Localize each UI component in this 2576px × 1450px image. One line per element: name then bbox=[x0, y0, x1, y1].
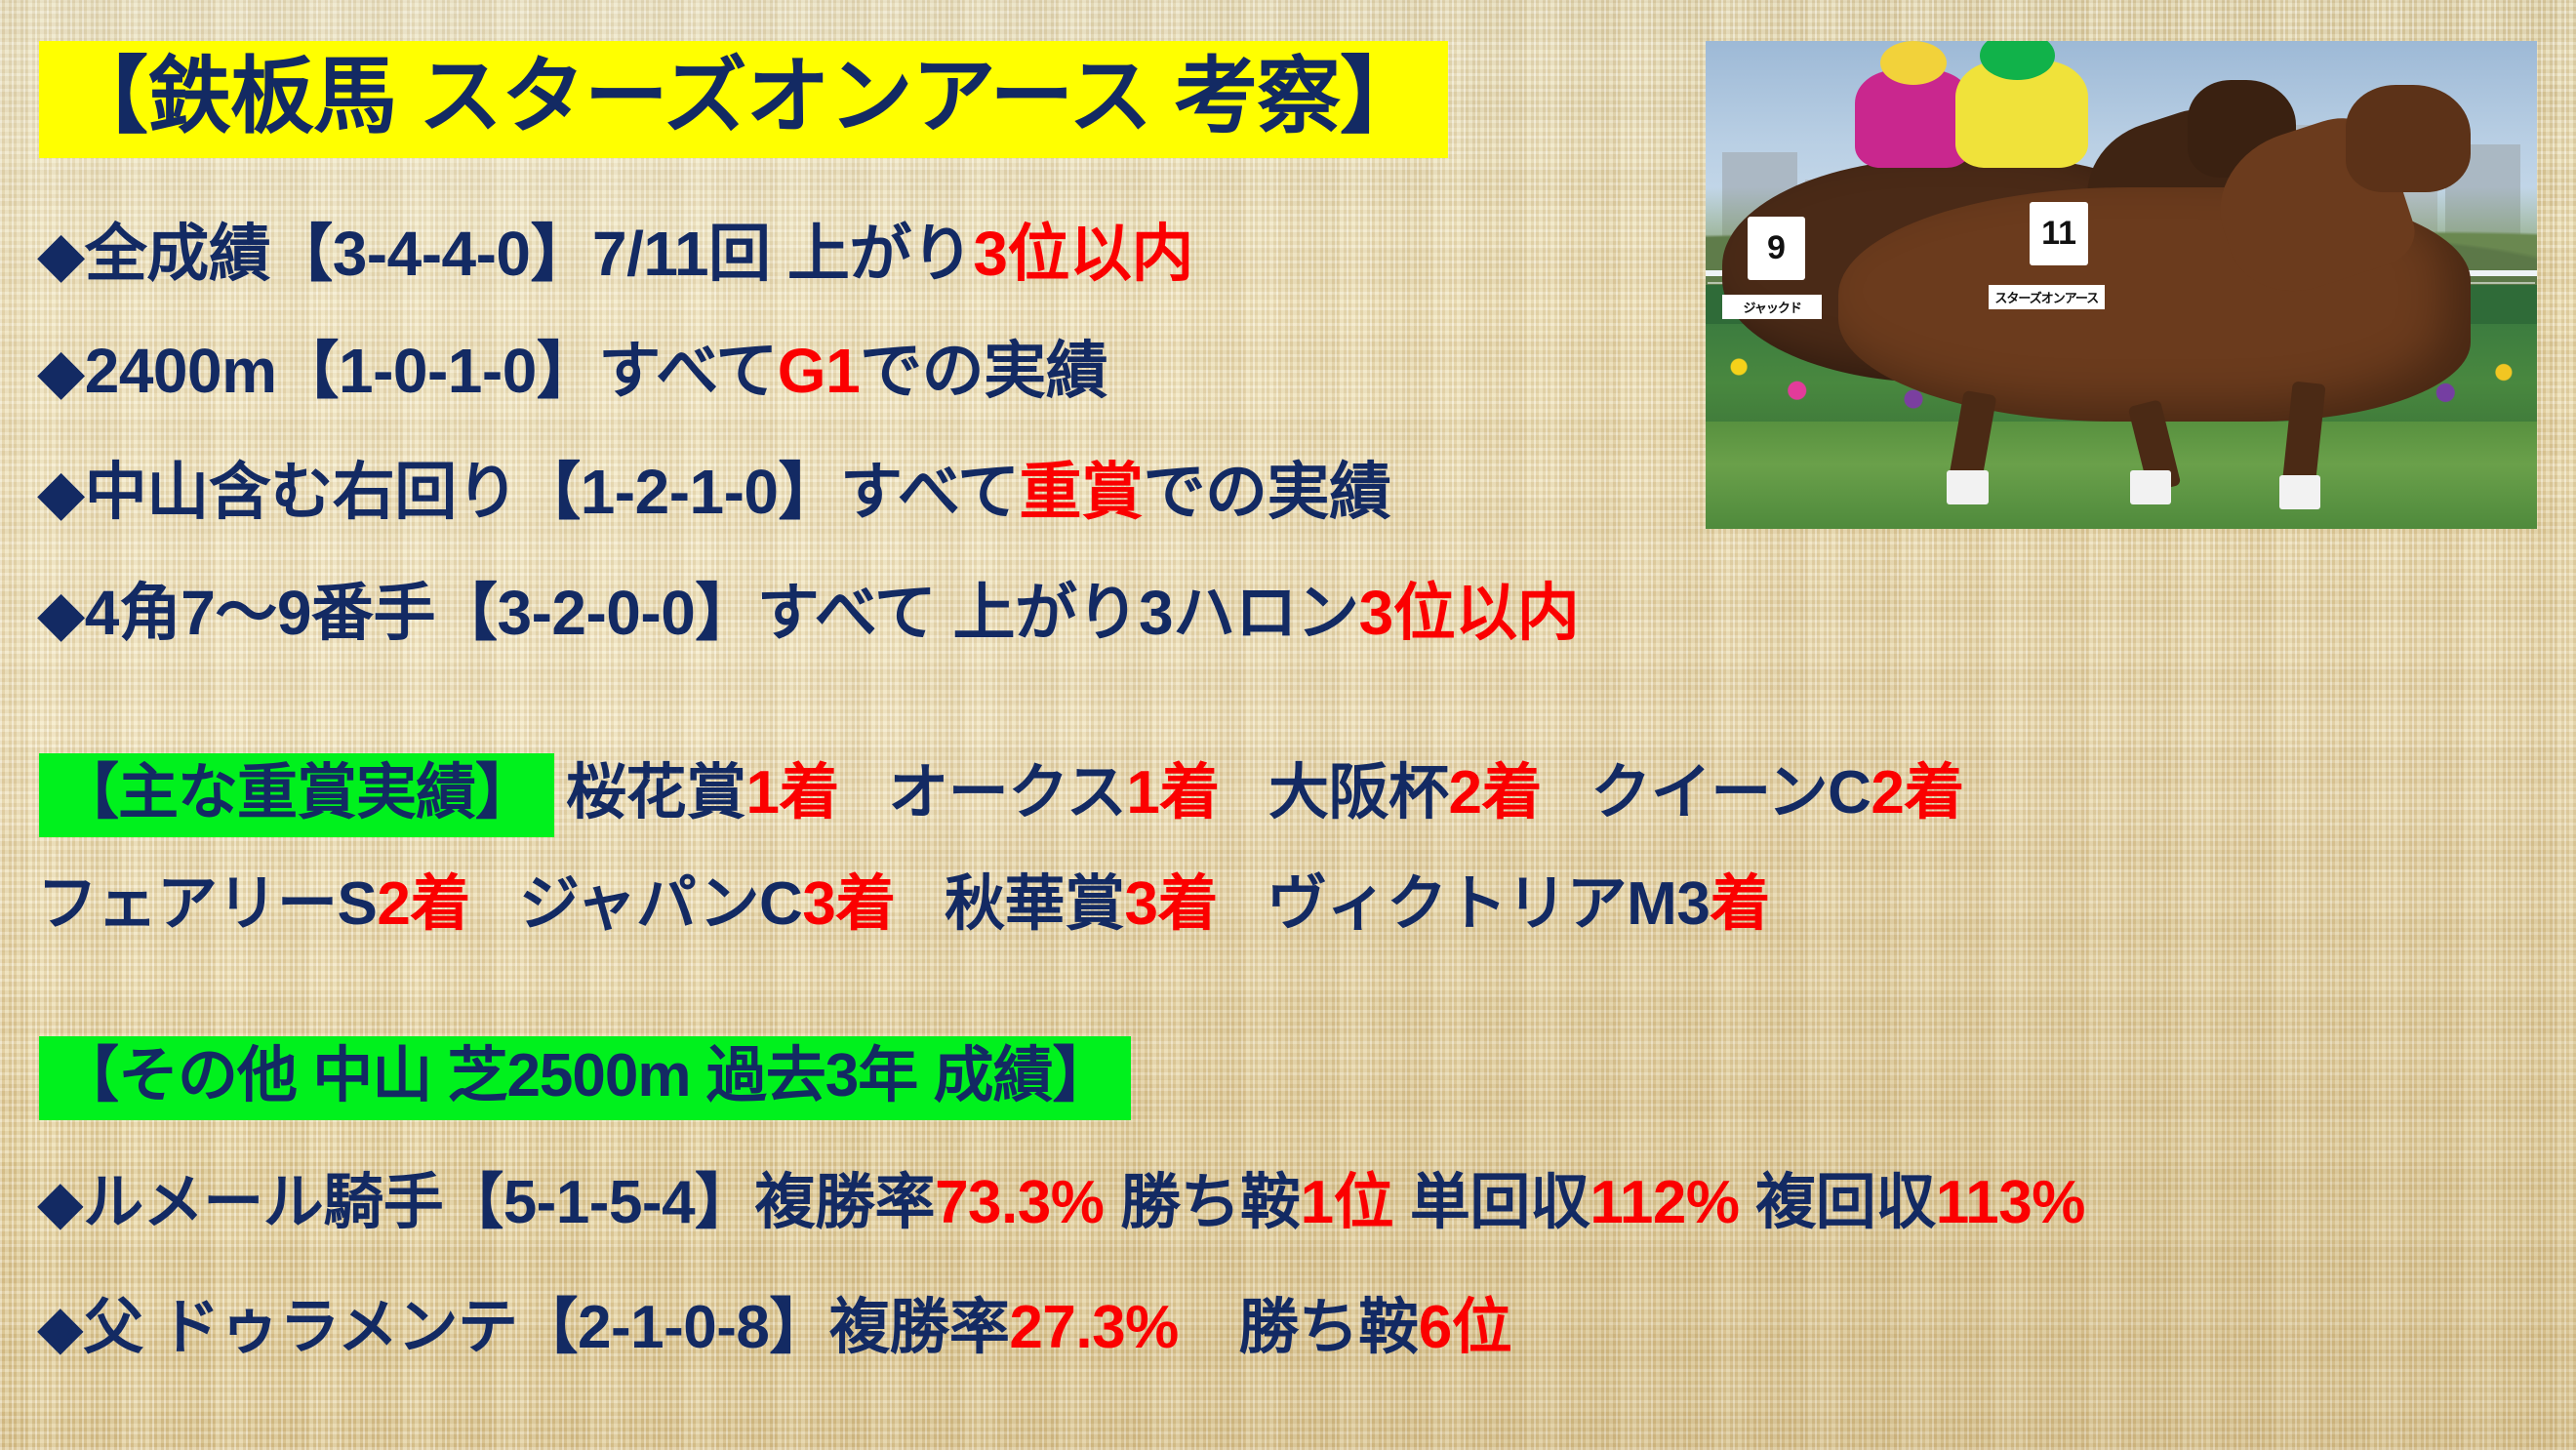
bullet-text: 2400m【1-0-1-0】すべて bbox=[85, 336, 778, 406]
saddle-cloth-front: 11 bbox=[2030, 202, 2088, 265]
race-place: 2着 bbox=[377, 870, 469, 938]
horse-name-back: ジャックド bbox=[1722, 295, 1822, 319]
bullet-marker: ◆ bbox=[37, 336, 85, 406]
saddle-cloth-back: 9 bbox=[1748, 217, 1806, 280]
bullet-highlight: G1 bbox=[778, 336, 860, 406]
stat-value: 1位 bbox=[1301, 1169, 1393, 1236]
race-place: 3着 bbox=[802, 870, 895, 938]
stat-label: 勝ち鞍 bbox=[1104, 1169, 1300, 1236]
bullet-text: 全成績【3-4-4-0】7/11回 上がり bbox=[85, 219, 974, 289]
horse-name-front: スターズオンアース bbox=[1989, 285, 2105, 309]
race-place: 1着 bbox=[746, 759, 839, 826]
race-place: 3着 bbox=[1125, 870, 1218, 938]
race-place: 2着 bbox=[1449, 759, 1542, 826]
stat-label: 単回収 bbox=[1393, 1169, 1590, 1236]
stat-value: 73.3% bbox=[935, 1169, 1104, 1236]
stat-label: 勝ち鞍 bbox=[1179, 1294, 1419, 1361]
stat-value: 6位 bbox=[1419, 1294, 1511, 1361]
bullet-marker: ◆ bbox=[37, 219, 85, 289]
bullet-highlight: 3位以内 bbox=[1359, 578, 1580, 648]
stat-label: ルメール騎手【5-1-5-4】複勝率 bbox=[83, 1169, 935, 1236]
stat-row-jockey: ◆ルメール騎手【5-1-5-4】複勝率73.3% 勝ち鞍1位 単回収112% 複… bbox=[37, 1173, 2085, 1233]
stat-label: 複回収 bbox=[1739, 1169, 1935, 1236]
stat-row-sire: ◆父 ドゥラメンテ【2-1-0-8】複勝率27.3% 勝ち鞍6位 bbox=[37, 1298, 1511, 1358]
bullet-highlight: 重賞 bbox=[1020, 457, 1144, 527]
horse-front-head bbox=[2346, 85, 2471, 192]
bullet-marker: ◆ bbox=[37, 578, 85, 648]
bullet-marker: ◆ bbox=[37, 1169, 83, 1236]
photo-turf-light bbox=[1706, 422, 2537, 529]
race-name: ジャパンC bbox=[519, 870, 802, 938]
bullet-marker: ◆ bbox=[37, 1294, 83, 1361]
stat-value: 112% bbox=[1590, 1169, 1739, 1236]
bullet-text-tail: での実績 bbox=[1144, 457, 1391, 527]
race-place: 2着 bbox=[1871, 759, 1963, 826]
section-header-grade-results: 【主な重賞実績】 bbox=[39, 753, 554, 837]
race-name: クイーンC bbox=[1590, 759, 1871, 826]
bullet-row-3: ◆中山含む右回り【1-2-1-0】すべて重賞での実績 bbox=[37, 461, 1391, 523]
section-header-grade-label: 【主な重賞実績】 bbox=[59, 759, 535, 826]
bullet-row-2: ◆2400m【1-0-1-0】すべてG1での実績 bbox=[37, 340, 1107, 402]
bullet-text: 4角7〜9番手【3-2-0-0】すべて 上がり3ハロン bbox=[85, 578, 1359, 648]
jockey-back-helmet bbox=[1880, 41, 1947, 85]
race-name: フェアリーS bbox=[37, 870, 377, 938]
grade-results-row-1: 桜花賞1着 オークス1着 大阪杯2着 クイーンC2着 bbox=[566, 763, 1964, 824]
leg-wrap bbox=[1947, 470, 1989, 504]
section-header-other-results: 【その他 中山 芝2500m 過去3年 成績】 bbox=[39, 1036, 1131, 1120]
stat-label: 父 ドゥラメンテ【2-1-0-8】複勝率 bbox=[83, 1294, 1009, 1361]
infographic-page: 【鉄板馬 スターズオンアース 考察】 9 ジャックド bbox=[0, 0, 2576, 1450]
bullet-text-tail: での実績 bbox=[860, 336, 1107, 406]
race-name: 大阪杯 bbox=[1268, 759, 1449, 826]
bullet-marker: ◆ bbox=[37, 457, 85, 527]
race-photo: 9 ジャックド 11 スターズオンアース bbox=[1706, 41, 2537, 529]
race-place: 着 bbox=[1710, 870, 1770, 938]
section-header-other-label: 【その他 中山 芝2500m 過去3年 成績】 bbox=[59, 1042, 1111, 1109]
jockey-back-silk bbox=[1855, 70, 1971, 168]
race-name: 秋華賞 bbox=[945, 870, 1125, 938]
race-name: ヴィクトリアM3 bbox=[1267, 870, 1710, 938]
race-name: オークス bbox=[888, 759, 1126, 826]
stat-value: 113% bbox=[1936, 1169, 2085, 1236]
race-name: 桜花賞 bbox=[566, 759, 746, 826]
bullet-row-1: ◆全成績【3-4-4-0】7/11回 上がり3位以内 bbox=[37, 222, 1193, 285]
bullet-text: 中山含む右回り【1-2-1-0】すべて bbox=[85, 457, 1020, 527]
page-title: 【鉄板馬 スターズオンアース 考察】 bbox=[64, 55, 1423, 139]
leg-wrap bbox=[2130, 470, 2172, 504]
bullet-row-4: ◆4角7〜9番手【3-2-0-0】すべて 上がり3ハロン3位以内 bbox=[37, 582, 1579, 644]
race-place: 1着 bbox=[1126, 759, 1219, 826]
bullet-highlight: 3位以内 bbox=[973, 219, 1193, 289]
stat-value: 27.3% bbox=[1009, 1294, 1178, 1361]
leg-wrap bbox=[2279, 475, 2321, 509]
title-banner: 【鉄板馬 スターズオンアース 考察】 bbox=[39, 41, 1448, 158]
grade-results-row-2: フェアリーS2着 ジャパンC3着 秋華賞3着 ヴィクトリアM3着 bbox=[37, 874, 1770, 935]
